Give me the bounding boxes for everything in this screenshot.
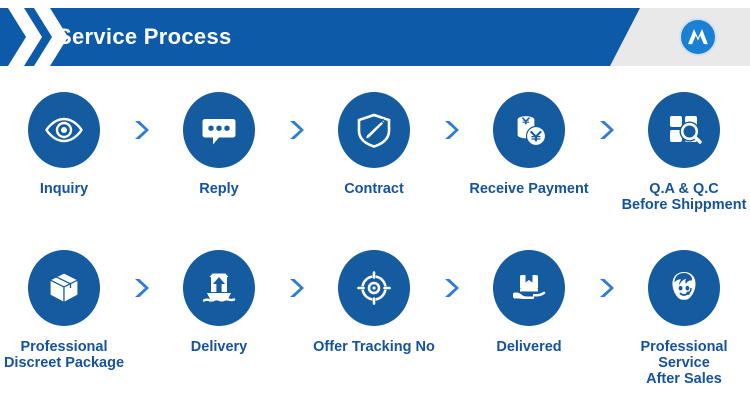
coin-stack-yen-icon <box>509 110 549 150</box>
step-separator-chevron <box>593 92 620 168</box>
process-step-discreet-package[interactable]: Professional Discreet Package <box>0 250 128 371</box>
chevron-right-icon <box>443 277 460 299</box>
chevron-right-icon <box>443 119 460 141</box>
package-box-icon <box>44 268 84 308</box>
target-crosshair-icon <box>354 268 394 308</box>
support-agent-icon <box>664 268 704 308</box>
step-separator-chevron <box>438 92 465 168</box>
inspection-magnifier-icon <box>664 110 704 150</box>
eye-icon <box>43 109 85 151</box>
step-icon-bubble <box>648 92 720 168</box>
chat-bubble-icon <box>199 110 239 150</box>
step-icon-bubble <box>493 92 565 168</box>
step-separator-chevron <box>593 250 620 326</box>
hand-parcel-icon <box>509 268 549 308</box>
chevron-right-icon <box>598 277 615 299</box>
m-monogram-logo-icon <box>679 18 717 56</box>
process-step-inquiry[interactable]: Inquiry <box>0 92 128 197</box>
step-icon-bubble <box>493 250 565 326</box>
step-icon-bubble <box>648 250 720 326</box>
step-separator-chevron <box>128 92 155 168</box>
chevron-right-icon <box>133 277 150 299</box>
step-separator-chevron <box>128 250 155 326</box>
step-label: Contract <box>344 181 404 197</box>
process-step-tracking-no[interactable]: Offer Tracking No <box>310 250 438 355</box>
step-label: Delivered <box>496 339 561 355</box>
step-label: Receive Payment <box>469 181 588 197</box>
step-label: Offer Tracking No <box>313 339 435 355</box>
step-separator-chevron <box>283 250 310 326</box>
process-step-contract[interactable]: Contract <box>310 92 438 197</box>
chevron-right-icon <box>133 119 150 141</box>
step-icon-bubble <box>28 250 100 326</box>
process-step-reply[interactable]: Reply <box>155 92 283 197</box>
page-title: Service Process <box>57 8 232 66</box>
chevron-right-icon <box>288 119 305 141</box>
step-separator-chevron <box>438 250 465 326</box>
process-row-2: Professional Discreet Package Delivery <box>0 250 750 410</box>
chevron-right-icon <box>288 277 305 299</box>
step-label: Professional Service After Sales <box>620 339 748 388</box>
step-icon-bubble <box>338 92 410 168</box>
chevron-right-icon <box>598 119 615 141</box>
process-step-delivered[interactable]: Delivered <box>465 250 593 355</box>
process-step-delivery[interactable]: Delivery <box>155 250 283 355</box>
step-icon-bubble <box>338 250 410 326</box>
step-icon-bubble <box>28 92 100 168</box>
process-row-1: Inquiry Reply <box>0 92 750 252</box>
page-header: Service Process <box>0 8 750 66</box>
step-label: Delivery <box>191 339 247 355</box>
step-label: Inquiry <box>40 181 88 197</box>
cargo-ship-icon <box>199 268 239 308</box>
step-label: Professional Discreet Package <box>4 339 124 371</box>
process-step-qa-qc[interactable]: Q.A & Q.C Before Shippment <box>620 92 748 213</box>
process-step-receive-payment[interactable]: Receive Payment <box>465 92 593 197</box>
step-label: Reply <box>199 181 239 197</box>
step-separator-chevron <box>283 92 310 168</box>
step-label: Q.A & Q.C Before Shippment <box>622 181 747 213</box>
step-icon-bubble <box>183 92 255 168</box>
step-icon-bubble <box>183 250 255 326</box>
service-process-flow: Inquiry Reply <box>0 72 750 408</box>
process-step-after-sales[interactable]: Professional Service After Sales <box>620 250 748 388</box>
contract-signing-icon <box>354 110 394 150</box>
